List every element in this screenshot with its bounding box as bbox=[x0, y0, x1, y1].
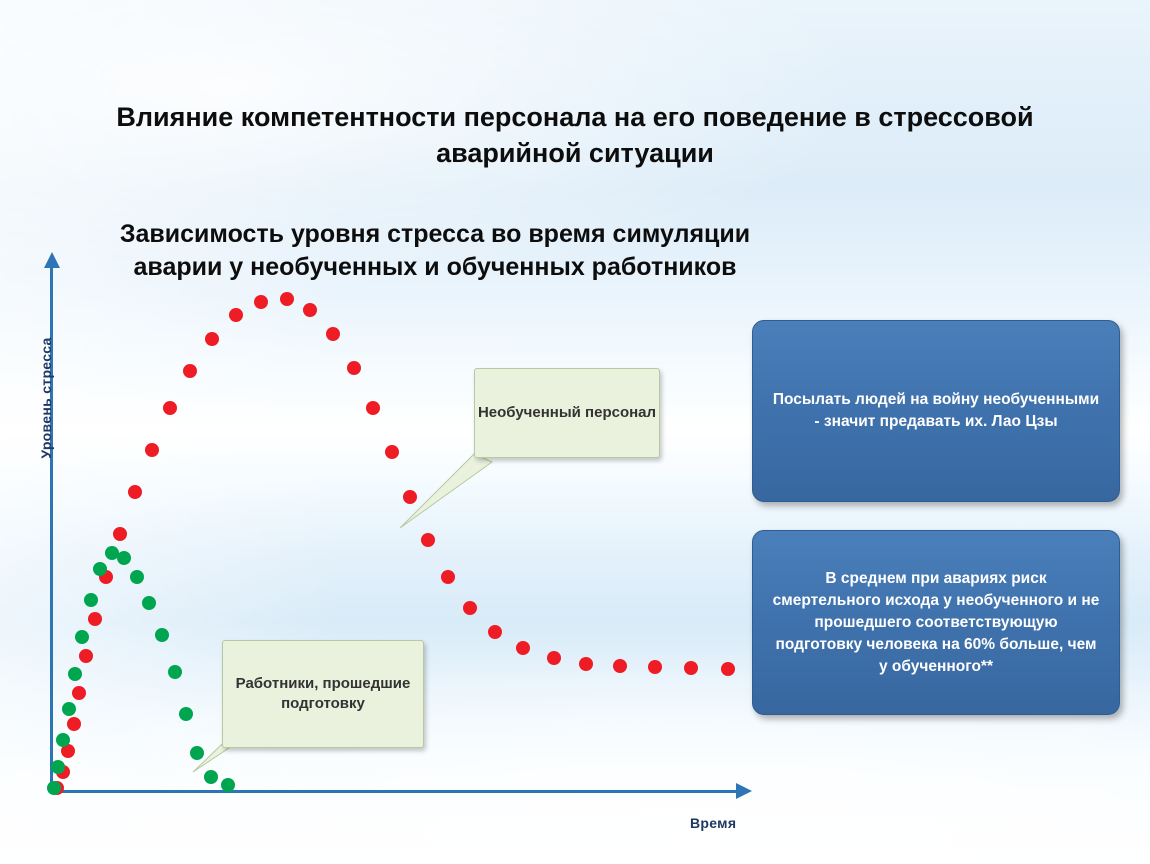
data-point bbox=[130, 570, 144, 584]
data-point bbox=[88, 612, 102, 626]
data-point bbox=[84, 593, 98, 607]
data-point bbox=[221, 778, 235, 792]
data-point bbox=[403, 490, 417, 504]
data-point bbox=[142, 596, 156, 610]
page-title: Влияние компетентности персонала на его … bbox=[90, 100, 1060, 171]
data-point bbox=[168, 665, 182, 679]
data-point bbox=[145, 443, 159, 457]
slide-canvas: Влияние компетентности персонала на его … bbox=[0, 0, 1150, 864]
data-point bbox=[648, 660, 662, 674]
note-fatality-risk-statistic[interactable]: В среднем при авариях риск смертельного … bbox=[752, 530, 1120, 715]
data-point bbox=[326, 327, 340, 341]
data-point bbox=[79, 649, 93, 663]
data-point bbox=[547, 651, 561, 665]
data-point bbox=[205, 332, 219, 346]
note-laozi-quote[interactable]: Посылать людей на войну необученными - з… bbox=[752, 320, 1120, 502]
data-point bbox=[229, 308, 243, 322]
data-point bbox=[67, 717, 81, 731]
x-axis-label: Время bbox=[690, 815, 736, 831]
data-point bbox=[75, 630, 89, 644]
data-point bbox=[579, 657, 593, 671]
data-point bbox=[421, 533, 435, 547]
data-point bbox=[47, 781, 61, 795]
data-point bbox=[366, 401, 380, 415]
data-point bbox=[117, 551, 131, 565]
data-point bbox=[179, 707, 193, 721]
data-point bbox=[488, 625, 502, 639]
data-point bbox=[721, 662, 735, 676]
data-point bbox=[68, 667, 82, 681]
data-point bbox=[93, 562, 107, 576]
data-point bbox=[516, 641, 530, 655]
callout-trained-workers[interactable]: Работники, прошедшие подготовку bbox=[222, 640, 424, 748]
data-point bbox=[163, 401, 177, 415]
data-point bbox=[303, 303, 317, 317]
callout-untrained-personnel[interactable]: Необученный персонал bbox=[474, 368, 660, 458]
data-point bbox=[62, 702, 76, 716]
data-point bbox=[613, 659, 627, 673]
data-point bbox=[183, 364, 197, 378]
data-point bbox=[684, 661, 698, 675]
data-point bbox=[254, 295, 268, 309]
data-point bbox=[128, 485, 142, 499]
data-point bbox=[155, 628, 169, 642]
data-point bbox=[56, 733, 70, 747]
data-point bbox=[113, 527, 127, 541]
data-point bbox=[280, 292, 294, 306]
data-point bbox=[463, 601, 477, 615]
data-point bbox=[72, 686, 86, 700]
data-point bbox=[51, 760, 65, 774]
data-point bbox=[441, 570, 455, 584]
data-point bbox=[204, 770, 218, 784]
data-point bbox=[347, 361, 361, 375]
data-point bbox=[190, 746, 204, 760]
data-point bbox=[385, 445, 399, 459]
